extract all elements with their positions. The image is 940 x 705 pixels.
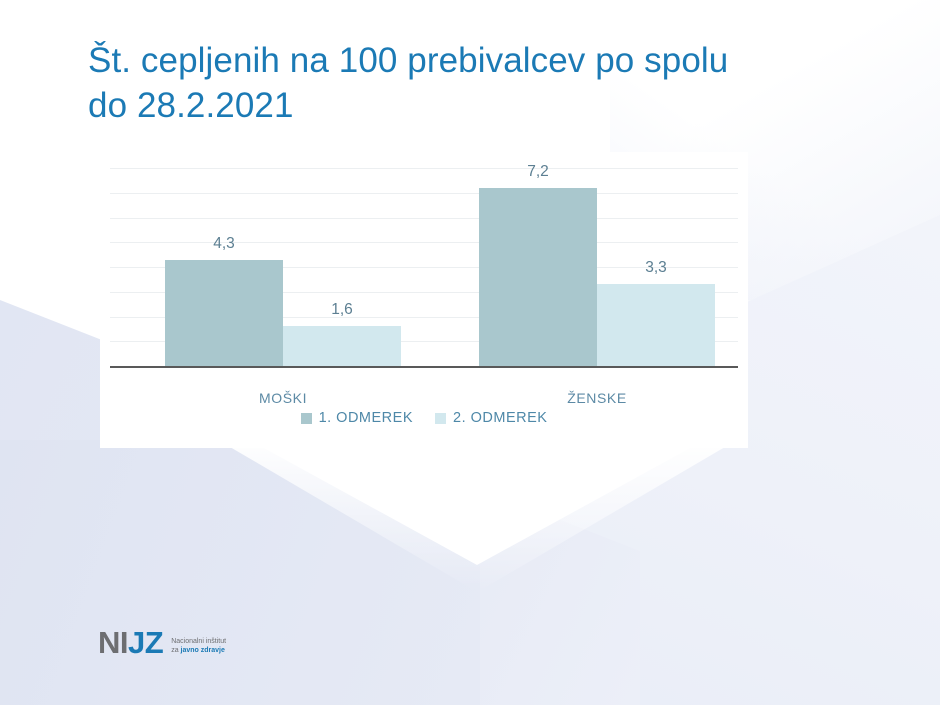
logo-wordmark: NIJZ — [98, 627, 163, 658]
slide-canvas: Št. cepljenih na 100 prebivalcev po spol… — [0, 0, 940, 705]
legend-swatch-icon — [435, 413, 446, 424]
data-label: 7,2 — [527, 163, 549, 181]
nijz-logo: NIJZ Nacionalni inštitut za javno zdravj… — [98, 627, 226, 658]
category-label-moški: MOŠKI — [259, 390, 307, 406]
chart-axis-line — [110, 366, 738, 368]
bar-moški-series1 — [165, 260, 283, 366]
logo-tagline: Nacionalni inštitut za javno zdravje — [171, 637, 226, 658]
legend-swatch-icon — [301, 413, 312, 424]
logo-tagline-line1: Nacionalni inštitut — [171, 637, 226, 646]
legend-item-series2[interactable]: 2. ODMEREK — [435, 410, 547, 426]
bar-ženske-series1 — [479, 188, 597, 366]
logo-tagline-bold: javno zdravje — [181, 647, 225, 654]
logo-tagline-line2: za javno zdravje — [171, 646, 226, 655]
legend-label: 2. ODMEREK — [453, 410, 547, 426]
data-label: 3,3 — [645, 259, 667, 277]
logo-tagline-prefix: za — [171, 647, 180, 654]
data-label: 4,3 — [213, 235, 235, 253]
category-label-ženske: ŽENSKE — [567, 390, 627, 406]
bar-ženske-series2 — [597, 284, 715, 366]
page-title: Št. cepljenih na 100 prebivalcev po spol… — [88, 38, 828, 128]
chart-legend: 1. ODMEREK2. ODMEREK — [100, 410, 748, 426]
logo-ni-text: NI — [98, 625, 128, 660]
legend-label: 1. ODMEREK — [319, 410, 413, 426]
chart-card: 4,31,67,23,3 MOŠKIŽENSKE 1. ODMEREK2. OD… — [100, 152, 748, 448]
data-label: 1,6 — [331, 301, 353, 319]
legend-item-series1[interactable]: 1. ODMEREK — [301, 410, 413, 426]
bar-moški-series2 — [283, 326, 401, 366]
logo-jz-text: JZ — [128, 625, 163, 660]
chart-plot-area — [110, 168, 738, 368]
chart-bars — [110, 168, 738, 366]
